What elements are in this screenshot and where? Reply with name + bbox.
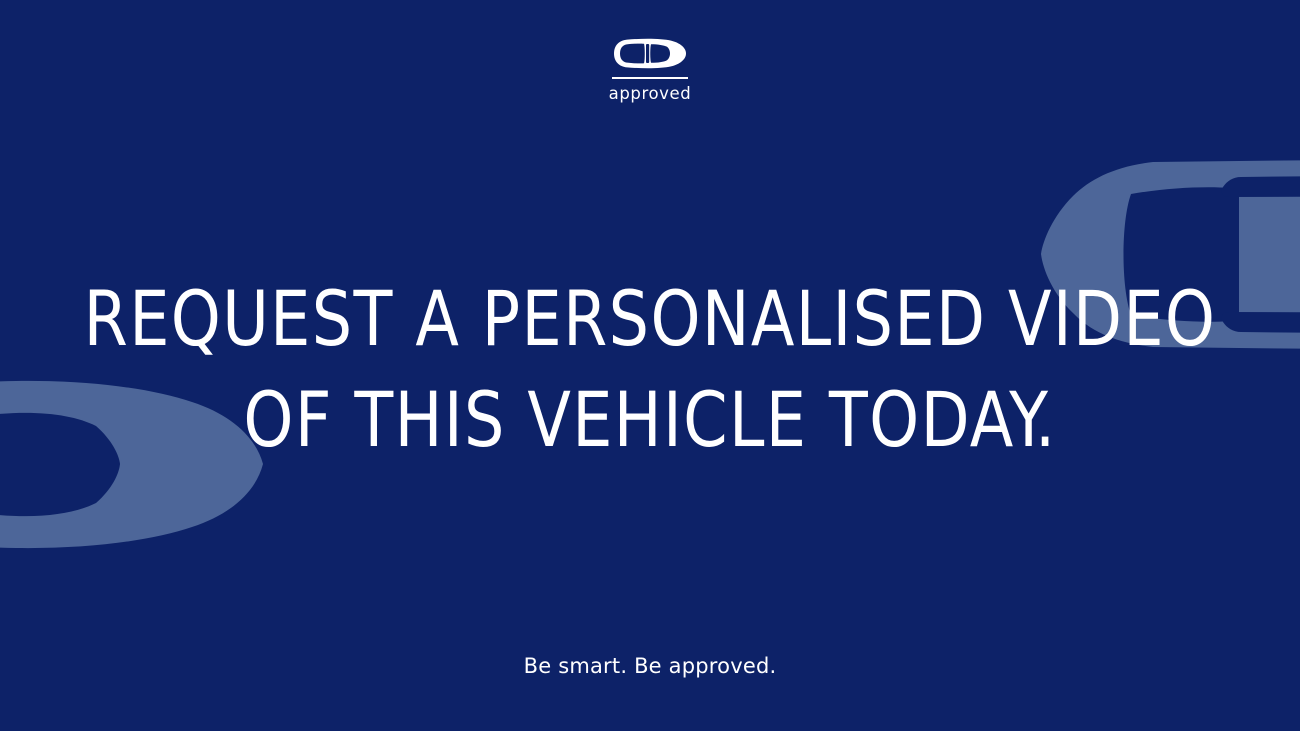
slide-canvas: approved REQUEST A PERSONALISED VIDEO OF… (0, 0, 1300, 731)
headline: REQUEST A PERSONALISED VIDEO OF THIS VEH… (0, 268, 1300, 470)
headline-line-2: OF THIS VEHICLE TODAY. (46, 369, 1255, 470)
brand-logo: approved (0, 38, 1300, 102)
logo-wordmark: approved (609, 86, 692, 103)
logo-divider-rule (612, 77, 688, 79)
tagline: Be smart. Be approved. (0, 656, 1300, 677)
car-top-view-icon (613, 38, 687, 69)
headline-line-1: REQUEST A PERSONALISED VIDEO (46, 268, 1255, 369)
